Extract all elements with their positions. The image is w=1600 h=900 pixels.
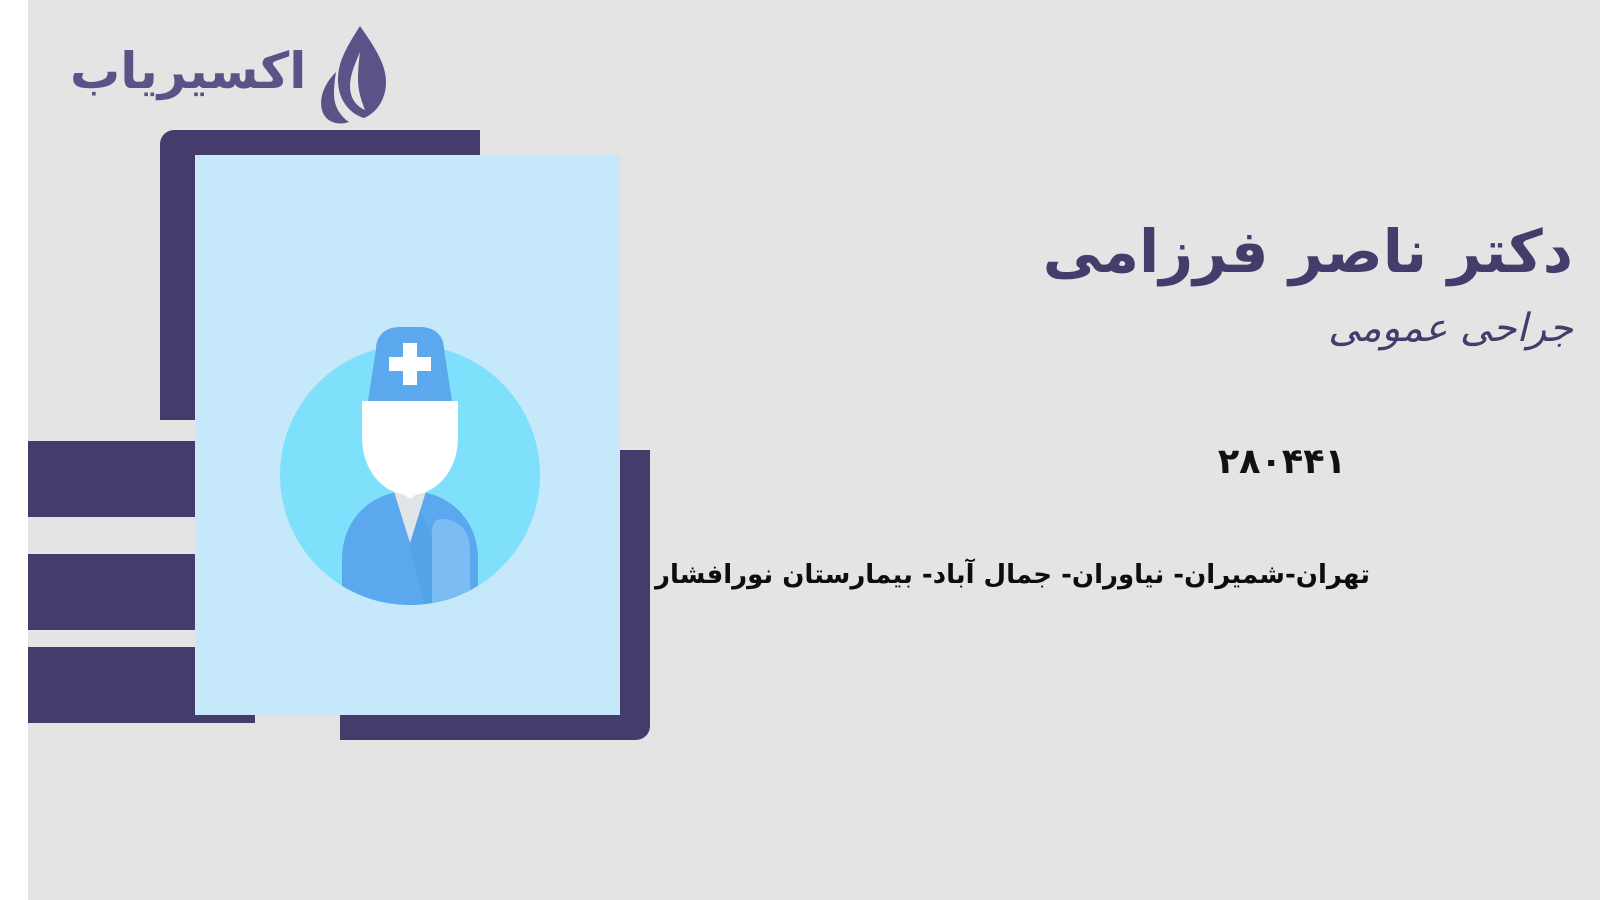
doctor-profile-card: اکسیریاب دکتر ناصر فرزامی جراحی عمومی ۲۸… [28, 0, 1600, 900]
flame-droplet-icon [316, 22, 388, 126]
brand-wordmark: اکسیریاب [70, 46, 306, 102]
photo-panel [195, 155, 620, 715]
doctor-illustration [160, 130, 650, 740]
doctor-avatar-icon [280, 305, 540, 625]
brand-logo[interactable]: اکسیریاب [70, 22, 388, 126]
